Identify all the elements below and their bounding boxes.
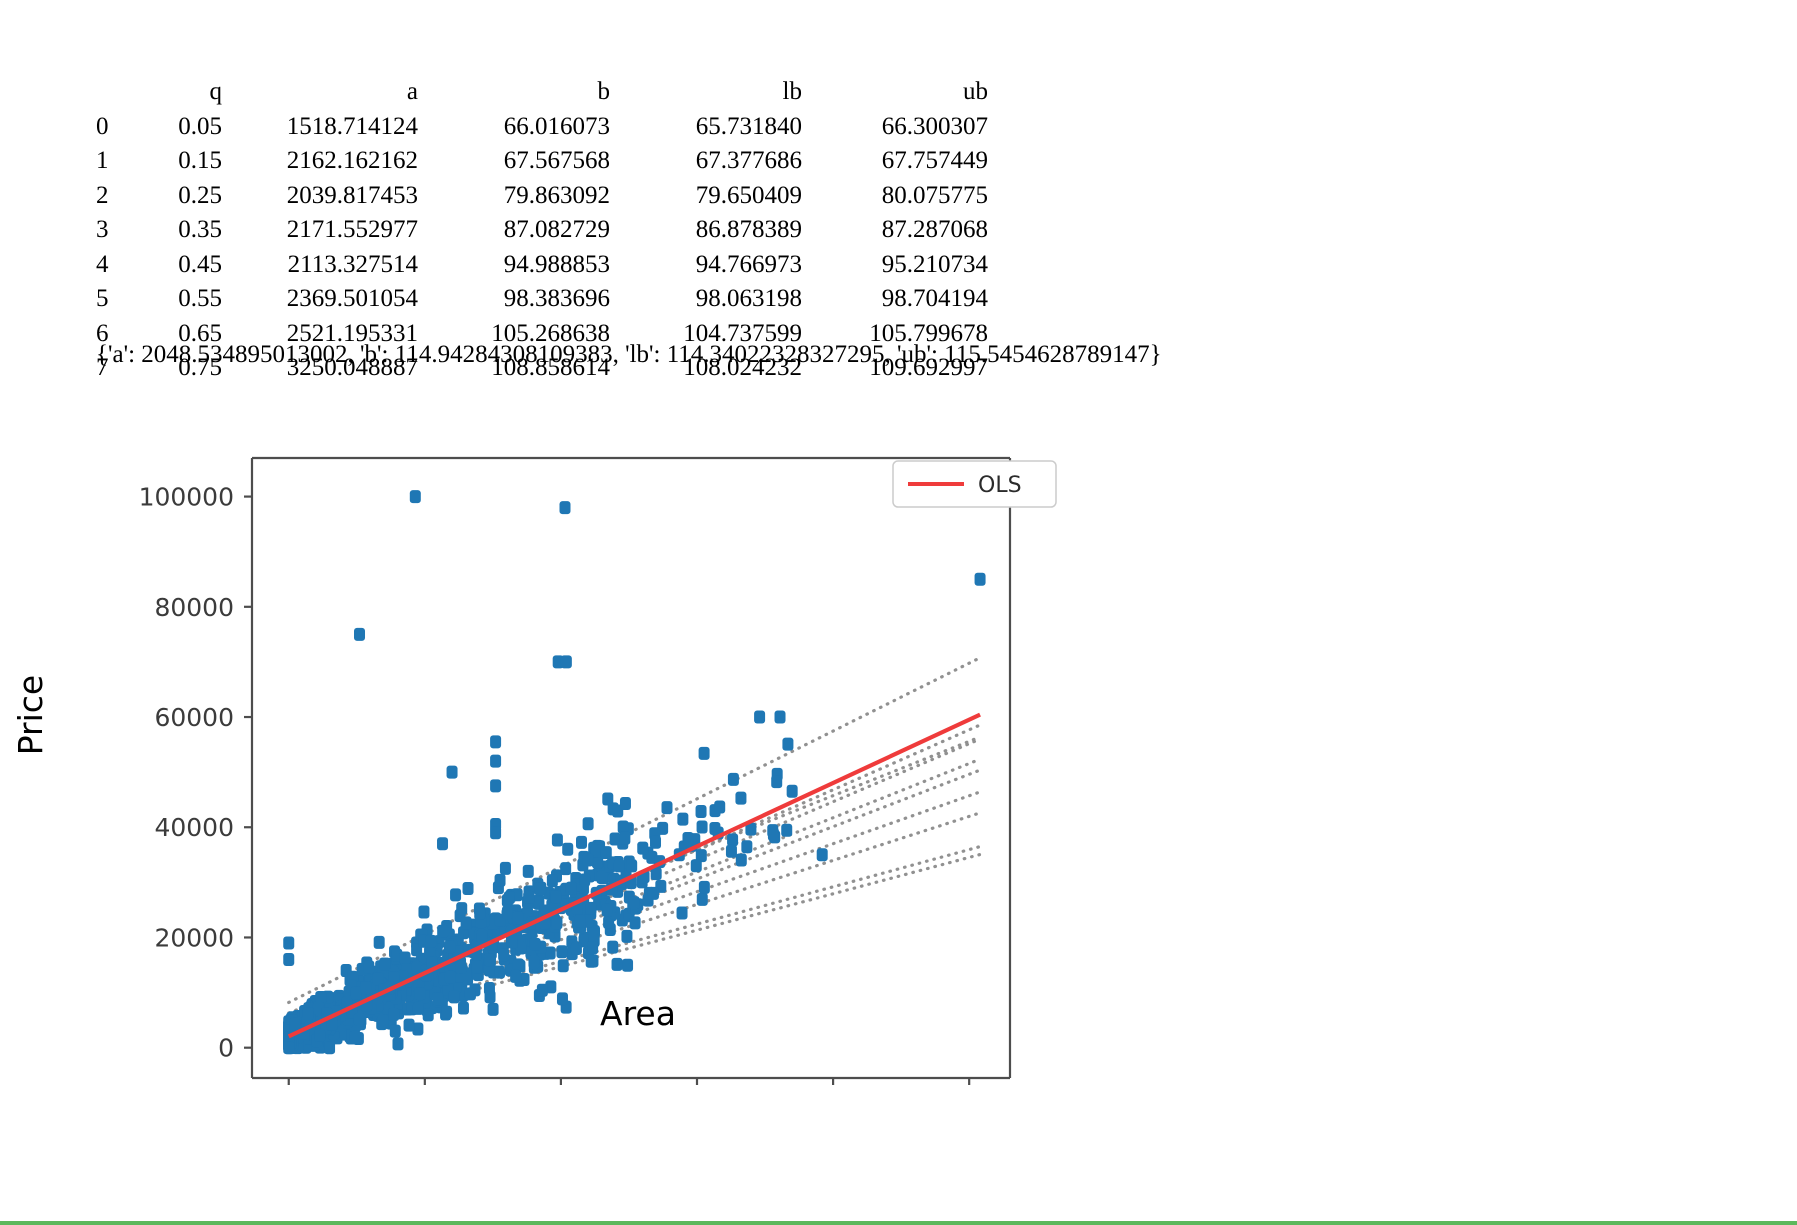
scatter-point	[596, 871, 607, 884]
y-tick-label: 100000	[139, 483, 234, 512]
scatter-point	[626, 859, 637, 872]
scatter-point	[714, 800, 725, 813]
scatter-point	[324, 1041, 335, 1054]
scatter-point	[677, 813, 688, 826]
scatter-point	[490, 755, 501, 768]
scatter-point	[500, 862, 511, 875]
scatter-point	[474, 907, 485, 920]
y-tick-label: 0	[218, 1034, 234, 1063]
scatter-point	[379, 958, 390, 971]
scatter-point	[354, 1013, 365, 1026]
scatter-point	[575, 915, 586, 928]
y-tick-label: 20000	[154, 923, 234, 952]
cell-a: 2369.501054	[222, 282, 418, 317]
table-row: 10.152162.16216267.56756867.37768667.757…	[96, 144, 988, 179]
scatter-point	[484, 953, 495, 966]
cell-lb: 67.377686	[610, 144, 802, 179]
scatter-point	[303, 1007, 314, 1020]
scatter-point	[360, 981, 371, 994]
scatter-plot: 0100200300400500 02000040000600008000010…	[0, 385, 1200, 1085]
scatter-point	[741, 840, 752, 853]
scatter-point	[728, 773, 739, 786]
scatter-point	[556, 945, 567, 958]
scatter-point	[699, 881, 710, 894]
scatter-point	[437, 837, 448, 850]
scatter-point	[576, 836, 587, 849]
scatter-point	[490, 779, 501, 792]
scatter-point	[586, 955, 597, 968]
scatter-point	[621, 930, 632, 943]
scatter-point	[696, 805, 707, 818]
cell-index: 1	[96, 144, 130, 179]
scatter-point	[787, 785, 798, 798]
scatter-point	[571, 942, 582, 955]
scatter-point	[619, 832, 630, 845]
scatter-point	[697, 893, 708, 906]
scatter-point	[444, 940, 455, 953]
table-header-row: q a b lb ub	[96, 75, 988, 110]
scatter-point	[524, 891, 535, 904]
scatter-point	[471, 960, 482, 973]
scatter-point	[618, 821, 629, 834]
cell-ub: 67.757449	[802, 144, 988, 179]
scatter-point	[432, 992, 443, 1005]
scatter-point	[782, 738, 793, 751]
cell-lb: 65.731840	[610, 110, 802, 145]
cell-lb: 98.063198	[610, 282, 802, 317]
scatter-point	[425, 935, 436, 948]
scatter-point	[727, 833, 738, 846]
scatter-point	[602, 792, 613, 805]
scatter-point	[582, 854, 593, 867]
cell-ub: 80.075775	[802, 179, 988, 214]
scatter-point	[445, 971, 456, 984]
scatter-point	[697, 820, 708, 833]
scatter-point	[447, 766, 458, 779]
cell-a: 2171.552977	[222, 213, 418, 248]
scatter-point	[463, 882, 474, 895]
cell-ub: 66.300307	[802, 110, 988, 145]
scatter-point	[490, 826, 501, 839]
scatter-point	[817, 848, 828, 861]
scatter-point	[754, 711, 765, 724]
scatter-point	[441, 1006, 452, 1019]
scatter-point	[392, 1037, 403, 1050]
scatter-point	[699, 747, 710, 760]
scatter-point	[585, 902, 596, 915]
scatter-point	[314, 1029, 325, 1042]
scatter-point	[390, 1025, 401, 1038]
cell-lb: 86.878389	[610, 213, 802, 248]
scatter-point	[400, 951, 411, 964]
scatter-point	[602, 904, 613, 917]
scatter-point	[414, 987, 425, 1000]
scatter-point	[289, 1018, 300, 1031]
scatter-point	[523, 865, 534, 878]
scatter-point	[283, 953, 294, 966]
scatter-point	[630, 916, 641, 929]
scatter-point	[418, 905, 429, 918]
scatter-point	[614, 859, 625, 872]
scatter-point	[504, 891, 515, 904]
scatter-point	[283, 1041, 294, 1054]
col-header-ub: ub	[802, 75, 988, 110]
summary-dict-line: {'a': 2048.534895013002, 'b': 114.942843…	[96, 338, 1162, 373]
scatter-point	[484, 982, 495, 995]
scatter-point	[490, 735, 501, 748]
scatter-point	[437, 925, 448, 938]
cell-a: 1518.714124	[222, 110, 418, 145]
scatter-point	[465, 987, 476, 1000]
scatter-point	[560, 862, 571, 875]
scatter-point	[413, 1002, 424, 1015]
table-row: 40.452113.32751494.98885394.76697395.210…	[96, 248, 988, 283]
cell-index: 4	[96, 248, 130, 283]
cell-q: 0.35	[130, 213, 222, 248]
scatter-point	[620, 797, 631, 810]
scatter-point	[677, 907, 688, 920]
cell-q: 0.55	[130, 282, 222, 317]
y-tick-label: 80000	[154, 593, 234, 622]
legend-label-ols: OLS	[978, 473, 1022, 498]
scatter-point	[771, 775, 782, 788]
cell-lb: 94.766973	[610, 248, 802, 283]
cell-b: 79.863092	[418, 179, 610, 214]
cell-q: 0.45	[130, 248, 222, 283]
scatter-point	[691, 859, 702, 872]
cell-index: 2	[96, 179, 130, 214]
scatter-point	[456, 902, 467, 915]
scatter-point	[351, 986, 362, 999]
scatter-point	[562, 843, 573, 856]
scatter-point	[781, 824, 792, 837]
cell-b: 67.567568	[418, 144, 610, 179]
scatter-point	[528, 955, 539, 968]
scatter-point	[736, 853, 747, 866]
table-row: 30.352171.55297787.08272986.87838987.287…	[96, 213, 988, 248]
scatter-point	[650, 836, 661, 849]
table-row: 20.252039.81745379.86309279.65040980.075…	[96, 179, 988, 214]
scatter-point	[513, 958, 524, 971]
scatter-point	[607, 941, 618, 954]
scatter-point	[583, 817, 594, 830]
scatter-point	[498, 948, 509, 961]
scatter-point	[547, 874, 558, 887]
scatter-point	[283, 936, 294, 949]
scatter-point	[610, 833, 621, 846]
scatter-point	[775, 711, 786, 724]
scatter-point	[559, 501, 570, 514]
scatter-point	[637, 842, 648, 855]
scatter-point	[378, 1014, 389, 1027]
y-tick-label: 60000	[154, 703, 234, 732]
scatter-point	[495, 874, 506, 887]
chart-legend[interactable]: OLS	[893, 461, 1056, 507]
scatter-point	[558, 959, 569, 972]
cell-q: 0.15	[130, 144, 222, 179]
scatter-point	[388, 1008, 399, 1021]
scatter-point	[349, 1031, 360, 1044]
col-header-index	[96, 75, 130, 110]
scatter-point	[648, 887, 659, 900]
scatter-point	[530, 938, 541, 951]
scatter-point	[488, 1003, 499, 1016]
scatter-point	[726, 845, 737, 858]
cell-index: 5	[96, 282, 130, 317]
cell-q: 0.25	[130, 179, 222, 214]
x-axis-label: Area	[600, 994, 676, 1033]
cell-b: 66.016073	[418, 110, 610, 145]
scatter-point	[550, 890, 561, 903]
cell-q: 0.05	[130, 110, 222, 145]
y-tick-label: 40000	[154, 813, 234, 842]
cell-ub: 98.704194	[802, 282, 988, 317]
col-header-b: b	[418, 75, 610, 110]
cell-ub: 87.287068	[802, 213, 988, 248]
scatter-point	[557, 992, 568, 1005]
scatter-point	[502, 906, 513, 919]
scatter-point	[450, 888, 461, 901]
col-header-lb: lb	[610, 75, 802, 110]
cell-ub: 95.210734	[802, 248, 988, 283]
scatter-point	[682, 832, 693, 845]
scatter-point	[552, 833, 563, 846]
scatter-point	[461, 916, 472, 929]
scatter-point	[507, 935, 518, 948]
scatter-point	[410, 490, 421, 503]
y-axis-label: Price	[11, 675, 50, 756]
scatter-point	[476, 930, 487, 943]
scatter-point	[768, 828, 779, 841]
cell-a: 2039.817453	[222, 179, 418, 214]
scatter-point	[622, 959, 633, 972]
scatter-point	[458, 1002, 469, 1015]
cell-b: 87.082729	[418, 213, 610, 248]
scatter-point	[512, 912, 523, 925]
cell-a: 2162.162162	[222, 144, 418, 179]
cell-index: 3	[96, 213, 130, 248]
scatter-point	[449, 990, 460, 1003]
scatter-point	[561, 655, 572, 668]
scatter-point	[374, 936, 385, 949]
col-header-a: a	[222, 75, 418, 110]
scatter-point	[404, 1019, 415, 1032]
scatter-point	[612, 958, 623, 971]
cell-a: 2113.327514	[222, 248, 418, 283]
cell-index: 0	[96, 110, 130, 145]
scatter-point	[975, 573, 986, 586]
table-row: 00.051518.71412466.01607365.73184066.300…	[96, 110, 988, 145]
scatter-point	[551, 916, 562, 929]
cell-b: 94.988853	[418, 248, 610, 283]
scatter-point	[537, 984, 548, 997]
scatter-point	[363, 960, 374, 973]
scatter-point	[662, 801, 673, 814]
table-row: 50.552369.50105498.38369698.06319898.704…	[96, 282, 988, 317]
cell-lb: 79.650409	[610, 179, 802, 214]
cell-b: 98.383696	[418, 282, 610, 317]
scatter-point	[534, 882, 545, 895]
scatter-point	[735, 792, 746, 805]
scatter-point	[423, 1008, 434, 1021]
scatter-point	[456, 961, 467, 974]
scatter-point	[629, 896, 640, 909]
scatter-point	[587, 941, 598, 954]
scatter-point	[354, 628, 365, 641]
scatter-point	[579, 874, 590, 887]
scatter-point	[510, 970, 521, 983]
col-header-q: q	[130, 75, 222, 110]
matplotlib-figure: 0100200300400500 02000040000600008000010…	[0, 385, 1200, 1085]
scatter-point	[566, 882, 577, 895]
